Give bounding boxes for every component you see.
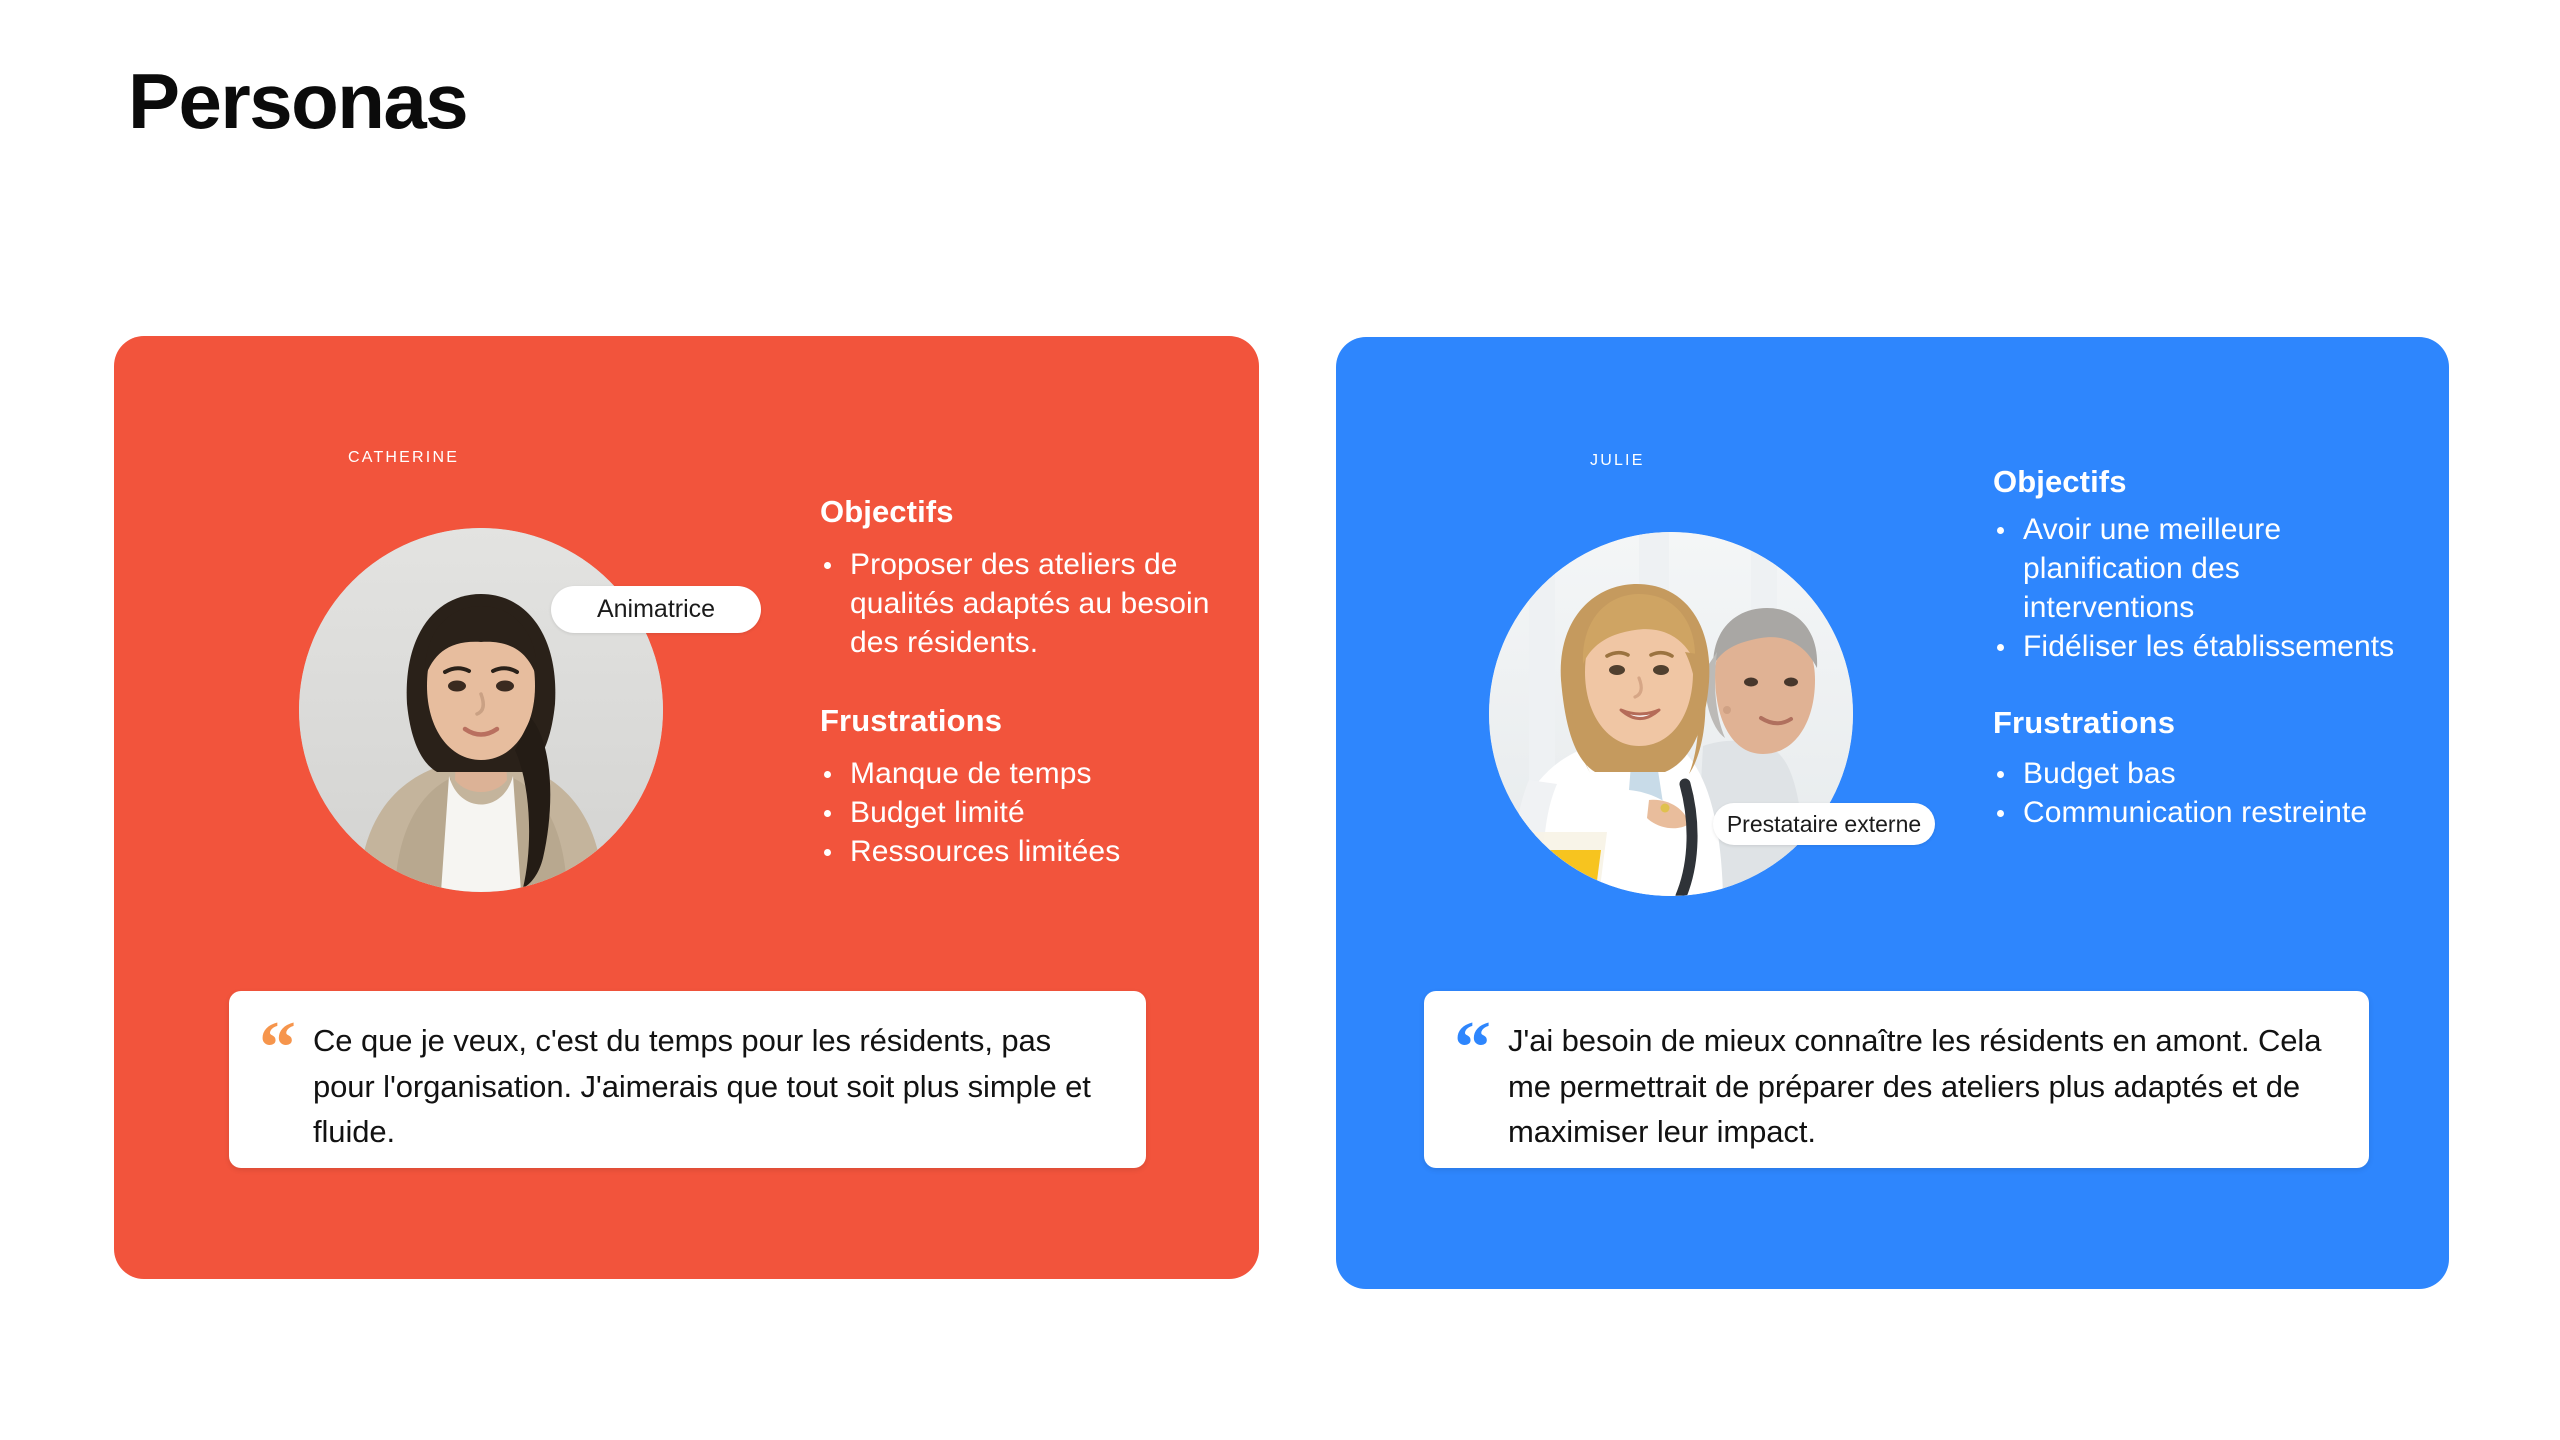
persona-name-catherine: CATHERINE — [348, 449, 459, 467]
quote-text-julie: J'ai besoin de mieux connaître les résid… — [1508, 1018, 2335, 1155]
quote-box-catherine: “ Ce que je veux, c'est du temps pour le… — [229, 991, 1146, 1168]
frustrations-list-julie: Budget bas Communication restreinte — [1993, 754, 2413, 832]
role-badge-julie[interactable]: Prestataire externe — [1713, 803, 1935, 845]
list-item: Avoir une meilleure planification des in… — [1993, 510, 2413, 627]
list-item: Ressources limitées — [820, 832, 1210, 871]
role-badge-catherine[interactable]: Animatrice — [551, 586, 761, 633]
objectifs-heading-julie: Objectifs — [1993, 465, 2413, 499]
list-item: Manque de temps — [820, 754, 1210, 793]
quote-box-julie: “ J'ai besoin de mieux connaître les rés… — [1424, 991, 2369, 1168]
list-item: Communication restreinte — [1993, 793, 2413, 832]
frustrations-heading-julie: Frustrations — [1993, 706, 2413, 740]
role-badge-catherine-label: Animatrice — [597, 595, 715, 624]
frustrations-list-catherine: Manque de temps Budget limité Ressources… — [820, 754, 1210, 871]
list-item: Proposer des ateliers de qualités adapté… — [820, 545, 1210, 662]
persona-info-catherine: Objectifs Proposer des ateliers de quali… — [820, 495, 1210, 871]
quote-icon: “ — [259, 1026, 296, 1072]
list-item: Budget limité — [820, 793, 1210, 832]
personas-slide: Personas CATHERINE — [0, 0, 2560, 1440]
avatar-catherine-illustration — [299, 528, 663, 892]
quote-icon: “ — [1454, 1026, 1491, 1072]
objectifs-list-catherine: Proposer des ateliers de qualités adapté… — [820, 545, 1210, 662]
page-title: Personas — [128, 62, 467, 140]
objectifs-heading-catherine: Objectifs — [820, 495, 1210, 529]
objectifs-list-julie: Avoir une meilleure planification des in… — [1993, 510, 2413, 666]
avatar-catherine — [299, 528, 663, 892]
list-item: Fidéliser les établissements — [1993, 627, 2413, 666]
role-badge-julie-label: Prestataire externe — [1727, 811, 1921, 838]
quote-text-catherine: Ce que je veux, c'est du temps pour les … — [313, 1018, 1112, 1155]
frustrations-heading-catherine: Frustrations — [820, 704, 1210, 738]
list-item: Budget bas — [1993, 754, 2413, 793]
persona-name-julie: JULIE — [1590, 452, 1645, 470]
persona-info-julie: Objectifs Avoir une meilleure planificat… — [1993, 465, 2413, 832]
